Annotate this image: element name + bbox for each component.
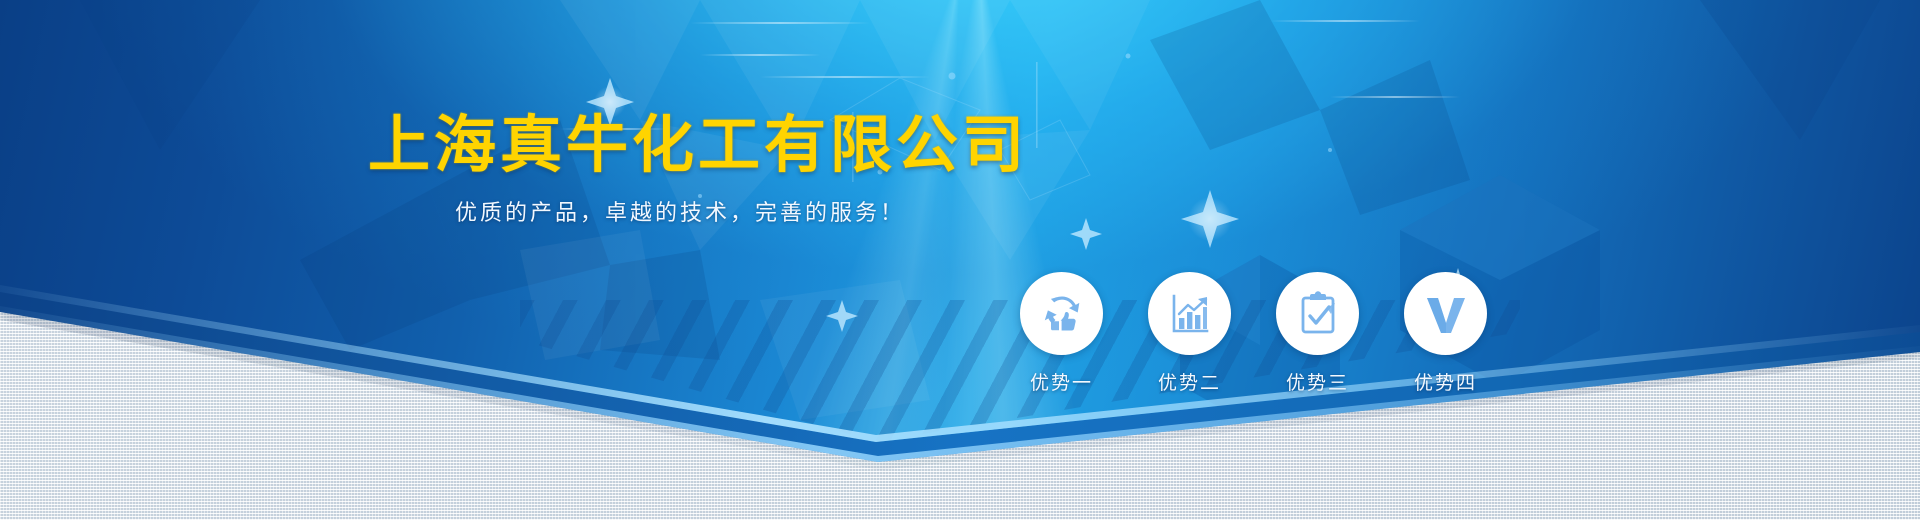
advantage-item-3[interactable]: 优势三	[1276, 272, 1359, 395]
advantage-item-2[interactable]: 优势二	[1148, 272, 1231, 395]
advantage-icon-circle-1	[1020, 272, 1103, 355]
advantage-icon-circle-2	[1148, 272, 1231, 355]
advantage-icon-circle-4	[1404, 272, 1487, 355]
banner-content: 上海真牛化工有限公司 优质的产品，卓越的技术，完善的服务！	[0, 0, 1920, 520]
advantage-label-1: 优势一	[1030, 368, 1093, 395]
advantage-label-2: 优势二	[1158, 368, 1221, 395]
advantage-item-4[interactable]: 优势四	[1404, 272, 1487, 395]
company-hero-banner: 上海真牛化工有限公司 优质的产品，卓越的技术，完善的服务！	[0, 0, 1920, 520]
banner-subtitle: 优质的产品，卓越的技术，完善的服务！	[455, 195, 905, 227]
advantage-label-3: 优势三	[1286, 368, 1349, 395]
page-title: 上海真牛化工有限公司	[368, 94, 1028, 184]
advantage-item-1[interactable]: 优势一	[1020, 272, 1103, 395]
advantage-label-4: 优势四	[1414, 368, 1477, 395]
refresh-thumbsup-icon	[1038, 290, 1086, 338]
letter-v-icon	[1422, 290, 1470, 338]
advantages-row: 优势一	[1020, 272, 1487, 395]
bar-chart-growth-icon	[1166, 290, 1214, 338]
clipboard-check-icon	[1294, 290, 1342, 338]
advantage-icon-circle-3	[1276, 272, 1359, 355]
